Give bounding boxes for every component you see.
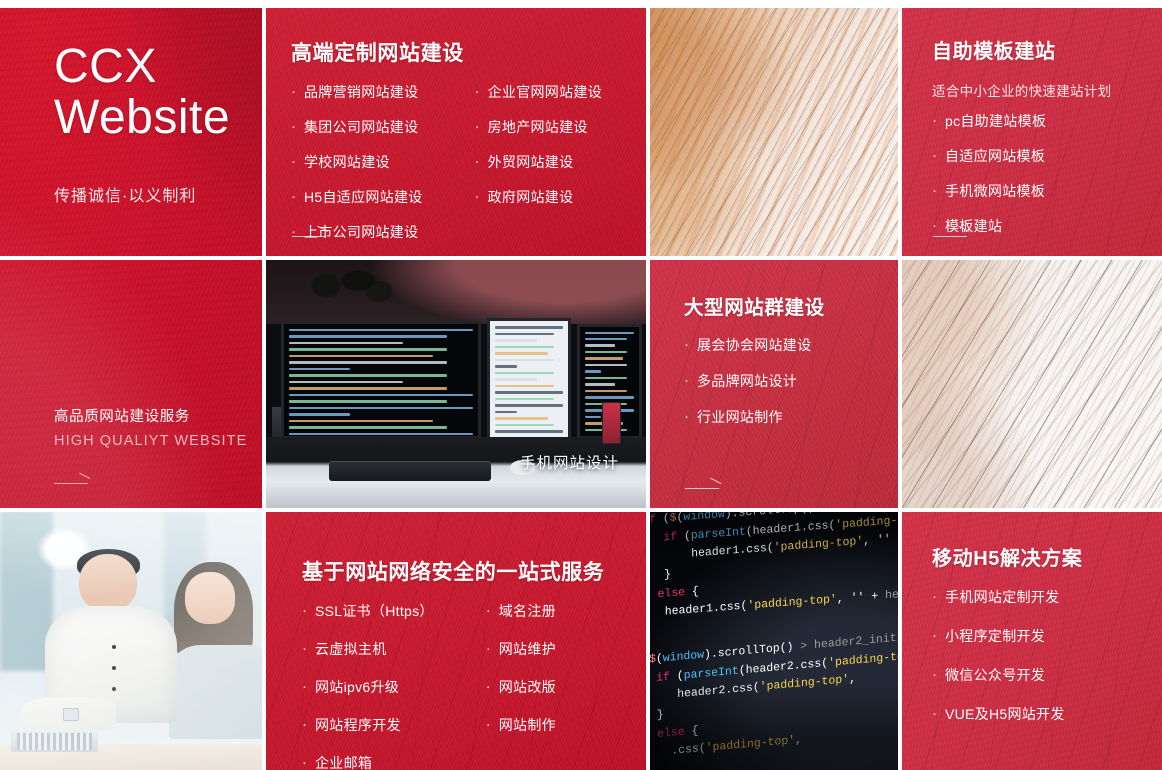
decorative-marble-texture-tile xyxy=(900,258,1162,510)
wood-grain-pattern xyxy=(648,0,900,258)
brand-footer-block: 高品质网站建设服务 HIGH QUALIYT WEBSITE xyxy=(54,405,247,487)
list-item[interactable]: 企业邮箱 xyxy=(302,756,434,770)
list-item[interactable]: 学校网站建设 xyxy=(291,155,423,169)
card-custom-lists: 品牌营销网站建设 集团公司网站建设 学校网站建设 H5自适应网站建设 上市公司网… xyxy=(291,85,602,258)
photo-team-consultation[interactable] xyxy=(0,510,264,770)
code-screen: if ($(window).scrollTop() > header1_init… xyxy=(648,510,900,770)
card-custom-title: 高端定制网站建设 xyxy=(291,37,464,67)
monitor-middle xyxy=(487,318,571,444)
smartphone xyxy=(602,402,621,445)
photo-vignette xyxy=(648,510,900,770)
brand-footer-en: HIGH QUALIYT WEBSITE xyxy=(54,433,247,449)
photo-code-editor[interactable]: if ($(window).scrollTop() > header1_init… xyxy=(648,510,900,770)
list-item[interactable]: 自适应网站模板 xyxy=(932,149,1046,163)
gutter-col-2 xyxy=(646,0,650,770)
list-item[interactable]: 手机网站定制开发 xyxy=(932,590,1065,604)
list-item[interactable]: 云虚拟主机 xyxy=(302,642,434,656)
brand-heading-block: CCX Website 传播诚信·以义制利 xyxy=(54,42,250,206)
card-group-list: 展会协会网站建设 多品牌网站设计 行业网站制作 xyxy=(684,338,811,446)
decorative-wood-texture-tile xyxy=(648,0,900,258)
list-item[interactable]: 房地产网站建设 xyxy=(475,120,602,134)
list-item[interactable]: 多品牌网站设计 xyxy=(684,374,811,388)
photo-haze-overlay xyxy=(0,510,264,770)
monitor-left xyxy=(281,321,481,439)
gutter-top-overlay xyxy=(0,0,1162,8)
list-item[interactable]: 小程序定制开发 xyxy=(932,629,1065,643)
gutter-col-1 xyxy=(262,0,266,770)
list-item[interactable]: SSL证书（Https） xyxy=(302,604,434,618)
list-item[interactable]: H5自适应网站建设 xyxy=(291,190,423,204)
list-item[interactable]: 企业官网网站建设 xyxy=(475,85,602,99)
gutter-row-2 xyxy=(0,508,1162,512)
list-item[interactable]: 网站ipv6升级 xyxy=(302,680,434,694)
monitor-code-lines xyxy=(289,329,473,431)
list-item[interactable]: 品牌营销网站建设 xyxy=(291,85,423,99)
arrow-right-icon[interactable] xyxy=(685,480,723,492)
keyboard xyxy=(329,461,490,481)
brand-slogan: 传播诚信·以义制利 xyxy=(54,182,250,206)
card-template-subtitle: 适合中小企业的快速建站计划 xyxy=(932,80,1111,100)
people-scene xyxy=(0,510,264,770)
card-custom-website[interactable]: 高端定制网站建设 品牌营销网站建设 集团公司网站建设 学校网站建设 H5自适应网… xyxy=(264,0,648,258)
card-security-services[interactable]: 基于网站网络安全的一站式服务 SSL证书（Https） 云虚拟主机 网站ipv6… xyxy=(264,510,648,770)
card-security-title: 基于网站网络安全的一站式服务 xyxy=(302,556,604,586)
gutter-row-1 xyxy=(0,256,1162,260)
card-security-lists: SSL证书（Https） 云虚拟主机 网站ipv6升级 网站程序开发 企业邮箱 … xyxy=(302,604,556,770)
arrow-right-icon[interactable] xyxy=(292,228,330,240)
list-item[interactable]: pc自助建站模板 xyxy=(932,114,1046,128)
card-custom-list-right: 企业官网网站建设 房地产网站建设 外贸网站建设 政府网站建设 xyxy=(475,85,602,258)
brand-footer-zh: 高品质网站建设服务 xyxy=(54,405,247,426)
brand-title-line2: Website xyxy=(54,91,230,144)
list-item[interactable]: 网站程序开发 xyxy=(302,718,434,732)
photo-desk-workstation[interactable]: 手机网站设计 xyxy=(264,258,648,510)
list-item[interactable]: 手机微网站模板 xyxy=(932,184,1046,198)
plant-silhouette xyxy=(287,258,418,326)
list-item[interactable]: 域名注册 xyxy=(486,604,556,618)
marble-grain-pattern xyxy=(900,258,1162,510)
monitor-code-lines xyxy=(495,326,563,436)
list-item[interactable]: VUE及H5网站开发 xyxy=(932,707,1065,721)
list-item[interactable]: 网站维护 xyxy=(486,642,556,656)
card-security-list-right: 域名注册 网站维护 网站改版 网站制作 xyxy=(486,604,556,770)
list-item[interactable]: 外贸网站建设 xyxy=(475,155,602,169)
list-item[interactable]: 展会协会网站建设 xyxy=(684,338,811,352)
card-group-title: 大型网站群建设 xyxy=(684,291,825,320)
list-item[interactable]: 集团公司网站建设 xyxy=(291,120,423,134)
gutter-col-3 xyxy=(898,0,902,770)
card-h5-list: 手机网站定制开发 小程序定制开发 微信公众号开发 VUE及H5网站开发 xyxy=(932,590,1065,746)
photo-desk-caption: 手机网站设计 xyxy=(520,451,619,473)
brand-panel: CCX Website 传播诚信·以义制利 高品质网站建设服务 HIGH QUA… xyxy=(0,0,264,510)
card-h5-title: 移动H5解决方案 xyxy=(932,542,1082,571)
card-template-title: 自助模板建站 xyxy=(932,35,1056,64)
card-security-list-left: SSL证书（Https） 云虚拟主机 网站ipv6升级 网站程序开发 企业邮箱 xyxy=(302,604,434,770)
brand-title-line1: CCX xyxy=(54,40,157,93)
card-self-service-template[interactable]: 自助模板建站 适合中小企业的快速建站计划 pc自助建站模板 自适应网站模板 手机… xyxy=(900,0,1162,258)
list-item[interactable]: 政府网站建设 xyxy=(475,190,602,204)
list-item[interactable]: 行业网站制作 xyxy=(684,410,811,424)
arrow-right-icon[interactable] xyxy=(933,228,971,240)
list-item[interactable]: 微信公众号开发 xyxy=(932,668,1065,682)
card-site-cluster[interactable]: 大型网站群建设 展会协会网站建设 多品牌网站设计 行业网站制作 xyxy=(648,258,900,510)
card-mobile-h5[interactable]: 移动H5解决方案 手机网站定制开发 小程序定制开发 微信公众号开发 VUE及H5… xyxy=(900,510,1162,770)
list-item[interactable]: 网站制作 xyxy=(486,718,556,732)
arrow-right-icon[interactable] xyxy=(54,475,92,487)
services-grid-page: CCX Website 传播诚信·以义制利 高品质网站建设服务 HIGH QUA… xyxy=(0,0,1162,770)
list-item[interactable]: 网站改版 xyxy=(486,680,556,694)
